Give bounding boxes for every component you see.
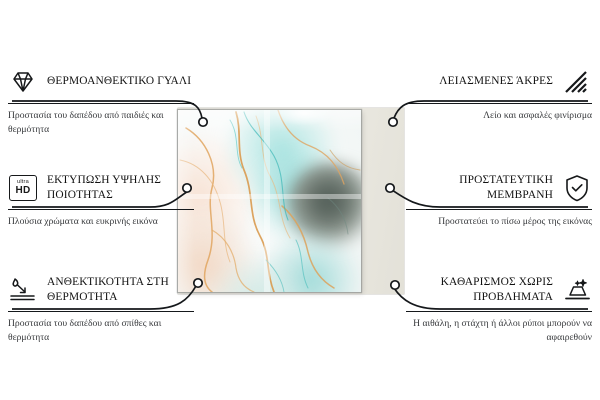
feature-easy-cleaning: ΚΑΘΑΡΙΣΜΟΣ ΧΩΡΙΣ ΠΡΟΒΛΗΜΑΤΑ Η αιθάλη, η … — [406, 270, 592, 346]
feature-title: ΚΑΘΑΡΙΣΜΟΣ ΧΩΡΙΣ ΠΡΟΒΛΗΜΑΤΑ — [406, 275, 553, 305]
feature-high-quality-print: ultra HD ΕΚΤΥΠΩΣΗ ΥΨΗΛΗΣ ΠΟΙΟΤΗΤΑΣ Πλούσ… — [8, 168, 194, 229]
heat-resistance-icon — [8, 275, 38, 305]
feature-description: Πλούσια χρώματα και ευκρινής εικόνα — [8, 215, 194, 229]
feature-title: ΛΕΙΑΣΜΕΝΕΣ ΆΚΡΕΣ — [406, 74, 553, 89]
feature-divider — [406, 103, 592, 104]
feature-heat-durability: ΑΝΘΕΚΤΙΚΟΤΗΤΑ ΣΤΗ ΘΕΡΜΟΤΗΤΑ Προστασία το… — [8, 270, 194, 346]
glass-highlight — [274, 110, 334, 126]
feature-description: Προστασία του δαπέδου από σπίθες και θερ… — [8, 317, 194, 346]
feature-divider — [8, 311, 194, 312]
feature-divider — [8, 103, 194, 104]
infographic-canvas: ΘΕΡΜΟΑΝΘΕΚΤΙΚΟ ΓΥΑΛΙ Προστασία του δαπέδ… — [0, 0, 600, 400]
feature-title: ΘΕΡΜΟΑΝΘΕΚΤΙΚΟ ΓΥΑΛΙ — [47, 74, 194, 89]
polished-edges-icon — [562, 67, 592, 97]
feature-description: Η αιθάλη, η στάχτη ή άλλοι ρύποι μπορούν… — [406, 317, 592, 346]
feature-polished-edges: ΛΕΙΑΣΜΕΝΕΣ ΆΚΡΕΣ Λείο και ασφαλές φινίρι… — [406, 62, 592, 123]
ultra-hd-bottom-label: HD — [15, 186, 30, 196]
ultra-hd-badge-icon: ultra HD — [8, 173, 38, 203]
glass-splashback-panel — [178, 110, 361, 292]
window-reflection-vertical — [264, 110, 270, 292]
easy-clean-sponge-icon — [562, 275, 592, 305]
feature-title: ΠΡΟΣΤΑΤΕΥΤΙΚΗ ΜΕΜΒΡΑΝΗ — [406, 173, 553, 203]
feature-description: Προστατεύει το πίσω μέρος της εικόνας — [406, 215, 592, 229]
feature-description: Προστασία του δαπέδου από παιδιές και θε… — [8, 109, 194, 138]
shield-check-icon — [562, 173, 592, 203]
feature-protective-membrane: ΠΡΟΣΤΑΤΕΥΤΙΚΗ ΜΕΜΒΡΑΝΗ Προστατεύει το πί… — [406, 168, 592, 229]
feature-description: Λείο και ασφαλές φινίρισμα — [406, 109, 592, 123]
feature-title: ΕΚΤΥΠΩΣΗ ΥΨΗΛΗΣ ΠΟΙΟΤΗΤΑΣ — [47, 173, 194, 203]
feature-divider — [8, 209, 194, 210]
feature-divider — [406, 311, 592, 312]
feature-title: ΑΝΘΕΚΤΙΚΟΤΗΤΑ ΣΤΗ ΘΕΡΜΟΤΗΤΑ — [47, 275, 194, 305]
diamond-icon — [8, 67, 38, 97]
window-reflection-horizontal — [178, 194, 361, 199]
feature-heat-resistant-glass: ΘΕΡΜΟΑΝΘΕΚΤΙΚΟ ΓΥΑΛΙ Προστασία του δαπέδ… — [8, 62, 194, 138]
feature-divider — [406, 209, 592, 210]
